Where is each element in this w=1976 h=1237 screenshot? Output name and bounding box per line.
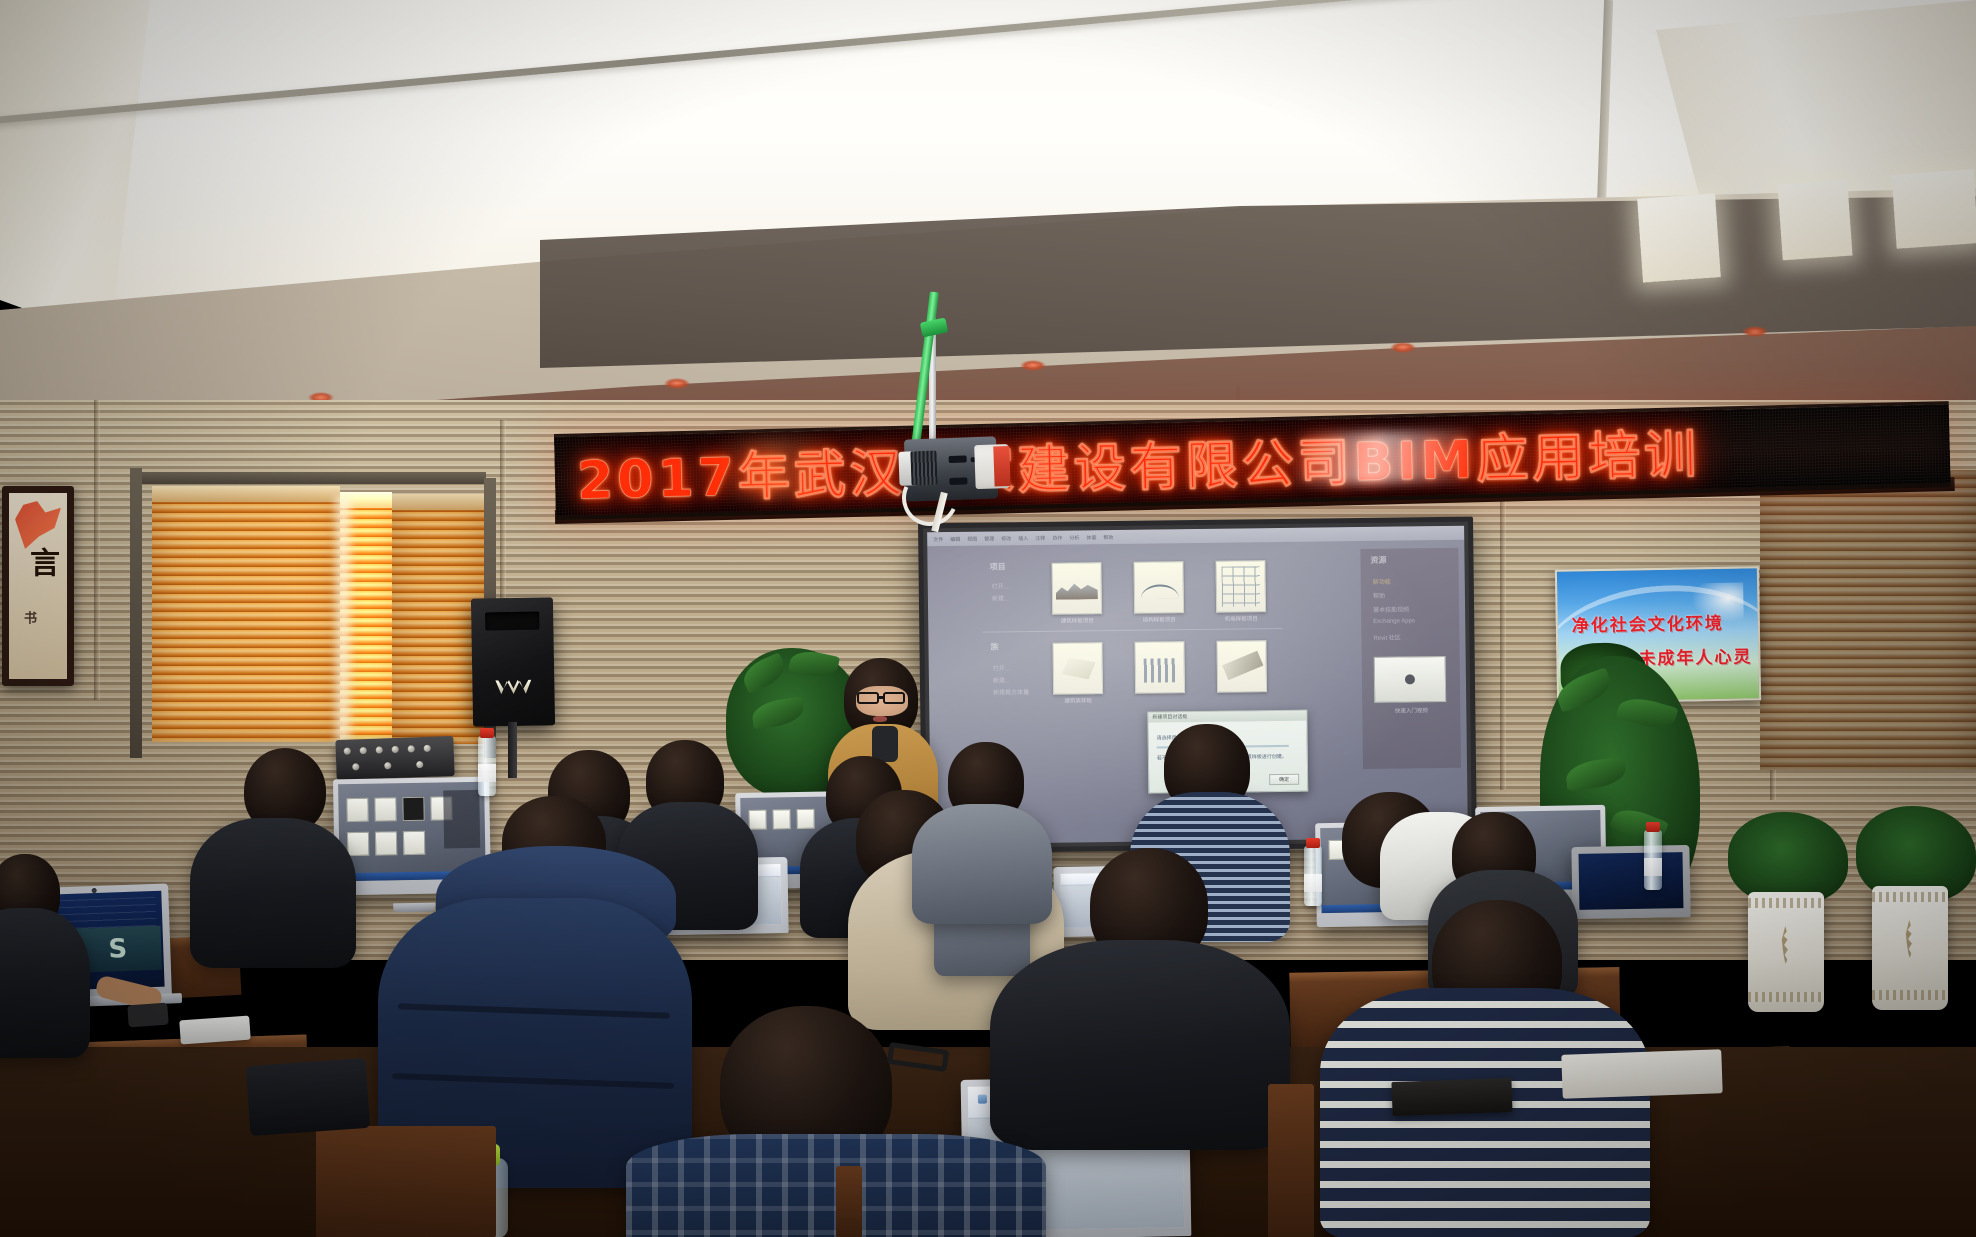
- projector-rear-accent: [993, 446, 1010, 487]
- vase-2-top-band: [1872, 892, 1948, 902]
- bottle-cap-1[interactable]: [480, 728, 494, 738]
- vase-1-bottom-band: [1748, 992, 1824, 1002]
- framed-calligraphy-scroll: 言 书: [2, 486, 74, 686]
- bottle-label-2: [1304, 874, 1322, 892]
- presenter-glasses-right-lens: [883, 692, 905, 704]
- resource-link-help[interactable]: 帮助: [1373, 591, 1385, 600]
- potted-plant-right-1-foliage: [1728, 812, 1848, 904]
- laptop-right-row[interactable]: [1571, 845, 1690, 919]
- notebook-on-desk[interactable]: [1391, 1078, 1512, 1116]
- wall-seam-1: [94, 400, 100, 700]
- thumb-terrain-graphic: [1056, 577, 1098, 600]
- bottle-cap-3[interactable]: [1646, 822, 1660, 832]
- mixer-knob-4[interactable]: [392, 746, 399, 753]
- chair-back-center: [836, 1166, 862, 1237]
- ceramic-vase-1: [1748, 892, 1824, 1012]
- bag-on-chair: [246, 1058, 371, 1136]
- projector-vga-port: [949, 455, 967, 463]
- soffit-downlight-4: [1390, 342, 1416, 353]
- presenter-mouth: [873, 716, 887, 722]
- red-ink-wash: [15, 501, 61, 549]
- mixer-knob-9[interactable]: [416, 761, 423, 768]
- ribbon-tool-icon-1[interactable]: [978, 1095, 987, 1104]
- resource-link-community[interactable]: Revit 社区: [1373, 633, 1400, 642]
- water-bottle-2[interactable]: [1304, 846, 1322, 906]
- monitor-file-tile-6[interactable]: [375, 831, 397, 855]
- recessed-light-panel-2: [1777, 180, 1852, 261]
- families-new-mass-link[interactable]: 新建概念体量: [993, 687, 1029, 696]
- menu-item-view[interactable]: 视图: [967, 535, 977, 542]
- speaker-stand: [508, 722, 517, 778]
- soffit-downlight-2: [664, 378, 690, 389]
- vase-2-bottom-band: [1872, 990, 1948, 1000]
- window-header-frame: [140, 472, 486, 484]
- monitor-file-tile-3[interactable]: [402, 797, 424, 821]
- menu-item-modify[interactable]: 修改: [1001, 535, 1011, 542]
- water-bottle-1[interactable]: [478, 736, 496, 796]
- bottle-label-1: [478, 764, 496, 782]
- monitor-file-tile-5[interactable]: [347, 832, 369, 856]
- thumb-box-graphic: [1062, 657, 1096, 679]
- vase-1-top-band: [1748, 898, 1824, 908]
- play-icon[interactable]: [1405, 674, 1415, 684]
- projects-new-link[interactable]: 新建...: [992, 593, 1009, 602]
- wall-speaker: [471, 597, 555, 726]
- mixer-knob-8[interactable]: [384, 762, 391, 769]
- calligraphy-signature: 书: [19, 611, 38, 624]
- families-new-link[interactable]: 新建...: [993, 675, 1010, 684]
- project-thumbnail-architecture[interactable]: [1051, 562, 1102, 615]
- bottle-cap-2[interactable]: [1306, 838, 1320, 848]
- vase-1-floral-motif: [1778, 926, 1794, 964]
- thumb-beam-graphic: [1222, 651, 1263, 680]
- project-thumbnail-mep[interactable]: [1215, 560, 1266, 613]
- monitor-file-tile-2[interactable]: [374, 797, 396, 821]
- resource-link-exchange[interactable]: Exchange Apps: [1373, 618, 1415, 625]
- mixer-knob-7[interactable]: [352, 763, 359, 770]
- resource-link-videos[interactable]: 基本技能视频: [1373, 604, 1409, 613]
- monitor-left-stand: [393, 903, 435, 913]
- mixer-knob-1[interactable]: [344, 748, 351, 755]
- project-thumbnail-caption-3: 机电样板项目: [1210, 614, 1272, 623]
- family-thumbnail-bars[interactable]: [1134, 641, 1185, 694]
- recessed-light-panel-3: [1892, 169, 1976, 249]
- start-page-divider: [982, 628, 1282, 633]
- monitor-resource-panel: [443, 790, 480, 849]
- menu-item-help[interactable]: 帮助: [1103, 534, 1113, 541]
- recessed-light-panel-1: [1637, 193, 1721, 282]
- family-thumbnail-box[interactable]: [1052, 642, 1103, 695]
- monitor-c-tile-1[interactable]: [748, 810, 766, 830]
- monitor-file-tile-7[interactable]: [403, 831, 425, 855]
- monitor-c-tile-2[interactable]: [772, 809, 790, 829]
- window-light-glow: [330, 496, 356, 746]
- menu-item-collaborate[interactable]: 协作: [1052, 534, 1062, 541]
- menu-item-annotate[interactable]: 注释: [1035, 534, 1045, 541]
- menu-item-analyze[interactable]: 分析: [1069, 534, 1079, 541]
- laptop-right-row-screen: [1579, 852, 1684, 910]
- calligraphy-character: 言: [19, 547, 63, 577]
- soffit-downlight-3: [1020, 360, 1046, 371]
- presenter-glasses-bridge: [879, 696, 884, 699]
- presenter-glasses-left-lens: [857, 692, 879, 704]
- menu-item-file[interactable]: 文件: [933, 536, 943, 543]
- project-thumbnail-structure[interactable]: [1133, 561, 1184, 614]
- chair-back-right: [1268, 1084, 1314, 1237]
- wall-seam-3: [1500, 470, 1506, 790]
- family-thumbnail-caption-1: 建筑族样板: [1047, 696, 1109, 705]
- menu-item-massing[interactable]: 体量: [1086, 534, 1096, 541]
- thumb-curve-graphic: [1141, 584, 1179, 598]
- speaker-brand-logo-icon: [495, 680, 531, 695]
- venetian-blind-left[interactable]: [152, 486, 340, 742]
- audio-mixer[interactable]: [335, 736, 454, 780]
- mixer-knob-5[interactable]: [408, 745, 415, 752]
- mouse-on-desk[interactable]: [127, 1003, 168, 1028]
- attendee-edge-left-body: [0, 908, 90, 1058]
- window-mullion-left: [130, 468, 142, 758]
- poster-text-line1: 净化社会文化环境: [1572, 609, 1724, 637]
- blind-headrail-left: [152, 486, 340, 502]
- ceramic-vase-2: [1872, 886, 1948, 1010]
- soffit-downlight-5: [1742, 326, 1768, 337]
- resource-link-whatsnew[interactable]: 新功能: [1373, 577, 1391, 586]
- families-open-link[interactable]: 打开...: [993, 663, 1010, 672]
- vase-2-floral-motif: [1902, 920, 1918, 958]
- phone-on-desk[interactable]: [179, 1016, 251, 1045]
- project-thumbnail-caption-1: 建筑样板项目: [1046, 616, 1108, 625]
- family-thumbnail-beam[interactable]: [1216, 640, 1267, 693]
- project-thumbnail-caption-2: 结构样板项目: [1128, 615, 1190, 624]
- dialog-ok-button[interactable]: 确定: [1269, 774, 1299, 785]
- resource-video-caption: 快速入门视频: [1380, 706, 1442, 715]
- projects-open-link[interactable]: 打开...: [992, 581, 1009, 590]
- water-bottle-3[interactable]: [1644, 830, 1662, 890]
- venetian-blind-right[interactable]: [392, 494, 484, 744]
- families-heading: 族: [990, 641, 998, 652]
- mixer-knob-6[interactable]: [424, 745, 431, 752]
- speaker-bass-port: [485, 612, 539, 631]
- classroom-scene: 言 书 2017年武汉国家建设有限公司BIM应用培训 文件 编辑 视图 管理 修…: [0, 0, 1976, 1237]
- resource-video-preview[interactable]: [1374, 656, 1447, 703]
- mixer-knob-3[interactable]: [376, 746, 383, 753]
- thumb-bars-graphic: [1144, 658, 1178, 682]
- projects-heading: 项目: [989, 561, 1005, 572]
- attendee-far-left-body: [190, 818, 356, 968]
- mixer-knob-2[interactable]: [360, 747, 367, 754]
- menu-item-manage[interactable]: 管理: [984, 535, 994, 542]
- attendee-center-front-body: [990, 940, 1290, 1150]
- monitor-c-tile-3[interactable]: [796, 809, 814, 829]
- papers-on-desk: [1561, 1049, 1722, 1099]
- bottle-label-3: [1644, 858, 1662, 876]
- monitor-file-tile-1[interactable]: [346, 798, 368, 822]
- resources-panel: 资源 新功能 帮助 基本技能视频 Exchange Apps Revit 社区 …: [1360, 548, 1461, 769]
- thumb-grid-graphic: [1222, 566, 1260, 606]
- venetian-blind-far-right[interactable]: [1760, 470, 1976, 770]
- chair-back-left: [316, 1126, 496, 1237]
- dialog-title: 新建项目对话框: [1148, 711, 1306, 723]
- menu-item-insert[interactable]: 插入: [1018, 535, 1028, 542]
- menu-item-edit[interactable]: 编辑: [950, 535, 960, 542]
- resources-heading: 资源: [1370, 555, 1386, 566]
- blind-headrail-right: [392, 494, 484, 510]
- attendee-gray-sweater-body: [912, 804, 1052, 924]
